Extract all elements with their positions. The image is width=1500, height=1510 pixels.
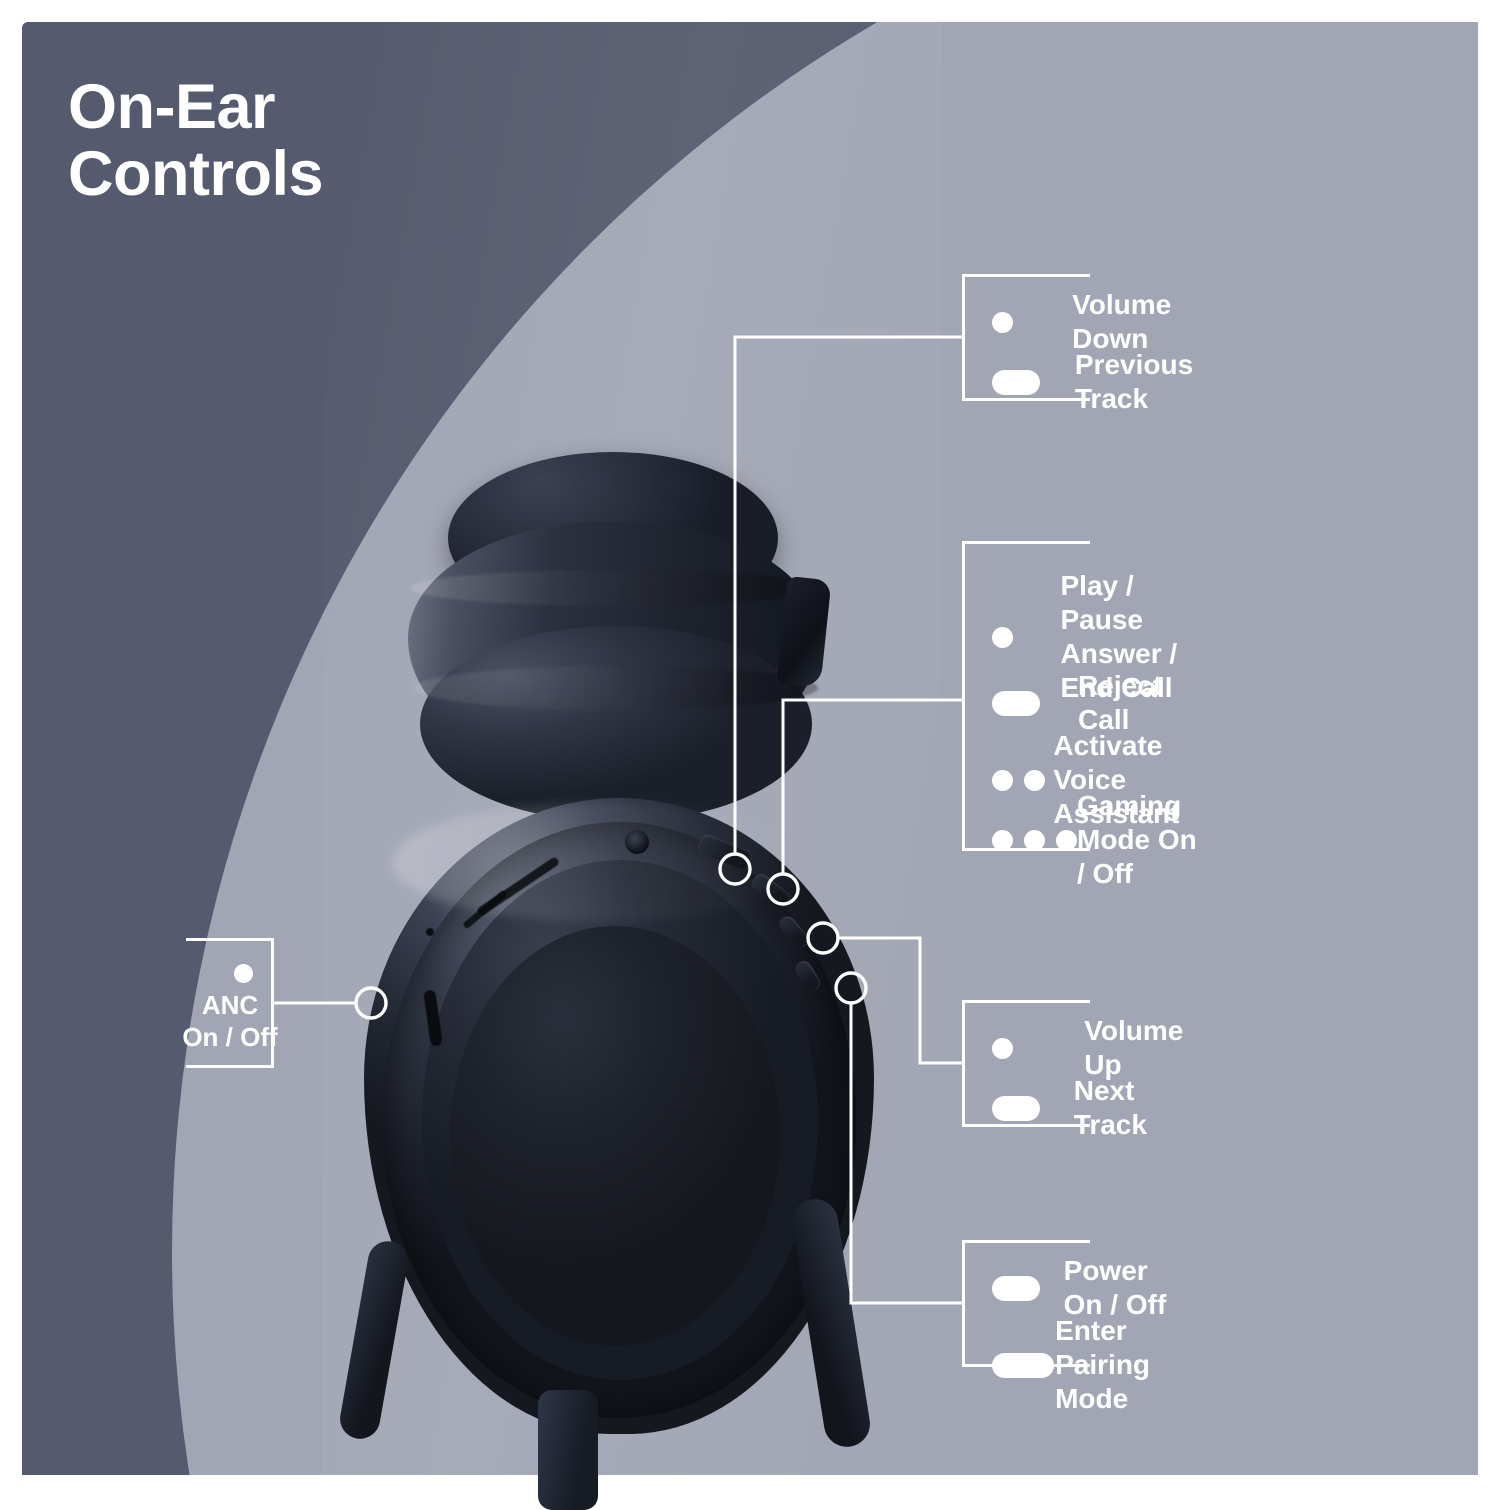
callout-label: Previous Track <box>1075 348 1222 416</box>
single-press-dot-icon <box>234 964 253 983</box>
headband-stem <box>538 1390 598 1510</box>
gesture-icons <box>992 1096 1074 1121</box>
callout-label: Gaming Mode On / Off <box>1077 789 1208 891</box>
callout-row: Next Track <box>992 1074 1177 1142</box>
triple-press-dot-icon-1 <box>992 830 1013 851</box>
callout-rows: Volume Down Previous Track <box>962 274 1090 401</box>
callout-rows: Volume Up Next Track <box>962 1000 1090 1127</box>
gesture-icons <box>992 1276 1064 1301</box>
gesture-icons <box>992 627 1061 648</box>
far-earcup-pad <box>420 626 812 822</box>
callout-anc-group: ANC On / Off <box>186 938 274 1068</box>
callout-volume-down-group: Volume Down Previous Track <box>962 274 1090 401</box>
callout-row: Volume Up <box>992 1014 1203 1082</box>
callout-row: Power On / Off <box>992 1254 1188 1322</box>
press-hold-pill-icon <box>992 1096 1040 1121</box>
headphone-illustration <box>330 430 950 1475</box>
far-earcup-seam-lower <box>414 666 818 710</box>
press-hold-pill-icon <box>992 1276 1040 1301</box>
press-hold-pill-icon <box>992 691 1040 716</box>
near-hinge-arm-left <box>337 1238 411 1442</box>
callout-row: Enter Pairing Mode <box>992 1314 1199 1416</box>
single-press-dot-icon <box>992 627 1013 648</box>
double-press-dot-icon-1 <box>992 770 1013 791</box>
gesture-icons <box>992 830 1077 851</box>
microphone-hole <box>426 928 434 936</box>
page-title: On-Ear Controls <box>68 74 628 208</box>
callout-label: Next Track <box>1074 1074 1177 1142</box>
callout-power-group: Power On / Off Enter Pairing Mode <box>962 1240 1090 1367</box>
callout-row: Gaming Mode On / Off <box>992 789 1208 891</box>
gesture-icons <box>992 770 1053 791</box>
callout-label: Volume Up <box>1084 1014 1203 1082</box>
triple-press-dot-icon-2 <box>1024 830 1045 851</box>
callout-label: Power On / Off <box>1064 1254 1188 1322</box>
double-press-dot-icon-2 <box>1024 770 1045 791</box>
single-press-dot-icon <box>992 1038 1013 1059</box>
page-title-line-2: Controls <box>68 141 628 208</box>
gesture-icons <box>992 312 1072 333</box>
callout-label: ANC On / Off <box>122 990 338 1053</box>
page-title-line-1: On-Ear <box>68 74 628 141</box>
callout-label: Volume Down <box>1072 288 1203 356</box>
gesture-icons <box>992 691 1078 716</box>
single-press-dot-icon <box>992 312 1013 333</box>
gesture-icons <box>992 1353 1055 1378</box>
press-hold-pill-icon <box>992 370 1040 395</box>
aux-jack <box>625 830 649 854</box>
far-earcup-seam-upper <box>410 570 818 606</box>
near-earcup-inner-pad <box>450 926 780 1346</box>
callout-rows: Play / Pause Answer / End Call Reject Ca… <box>962 541 1090 851</box>
callout-playback-call-group: Play / Pause Answer / End Call Reject Ca… <box>962 541 1090 851</box>
callout-label: Reject Call <box>1078 669 1188 737</box>
callout-row: Previous Track <box>992 348 1222 416</box>
callout-rows: Power On / Off Enter Pairing Mode <box>962 1240 1090 1367</box>
callout-volume-up-group: Volume Up Next Track <box>962 1000 1090 1127</box>
infographic-canvas: On-Ear Controls <box>0 0 1500 1500</box>
callout-label: Enter Pairing Mode <box>1055 1314 1199 1416</box>
callout-row: Volume Down <box>992 288 1203 356</box>
gesture-icons <box>992 370 1075 395</box>
long-press-hold-pill-icon <box>992 1353 1054 1378</box>
gesture-icons <box>992 1038 1084 1059</box>
triple-press-dot-icon-3 <box>1056 830 1077 851</box>
callout-row: Reject Call <box>992 669 1188 737</box>
